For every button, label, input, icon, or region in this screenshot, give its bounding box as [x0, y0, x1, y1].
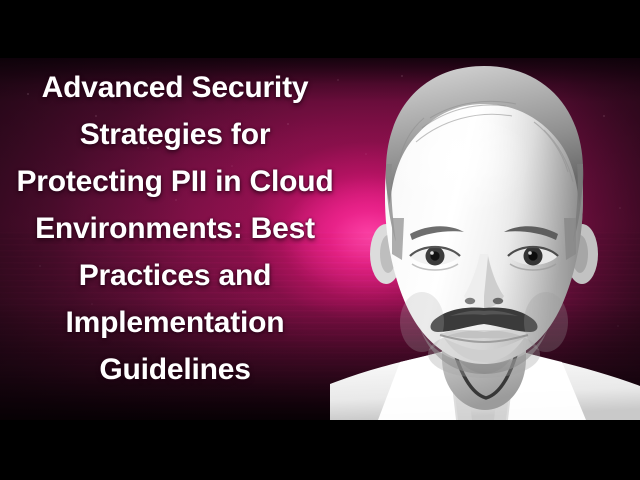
nostril-left	[465, 298, 475, 304]
cheek-stubble-left	[400, 292, 444, 352]
sideburn-right	[564, 218, 576, 260]
letterbox-bar-top	[0, 0, 640, 58]
chin-stubble	[428, 330, 540, 378]
sideburn-left	[392, 218, 404, 260]
thumbnail-frame: Advanced Security Strategies for Protect…	[0, 0, 640, 480]
portrait-photo	[330, 58, 640, 420]
nostril-right	[493, 298, 503, 304]
letterbox-bar-bottom	[0, 420, 640, 480]
forehead-highlight	[394, 120, 542, 236]
cheek-stubble-right	[524, 292, 568, 352]
